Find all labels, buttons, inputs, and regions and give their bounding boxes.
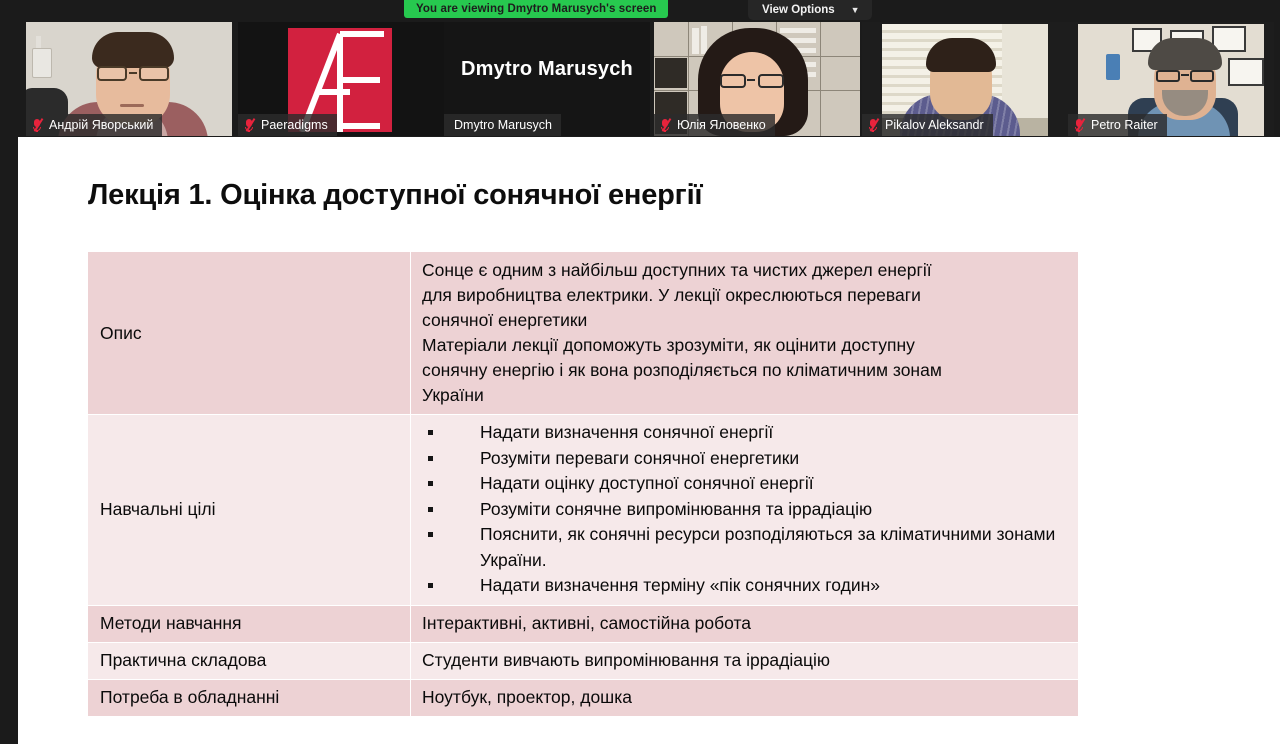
microphone-muted-icon: [1074, 118, 1085, 132]
desc-line: сонячної енергетики: [422, 308, 1068, 333]
row-label: Опис: [88, 252, 410, 414]
row-value: Інтерактивні, активні, самостійна робота: [410, 605, 1078, 642]
desc-line: Матеріали лекції допоможуть зрозуміти, я…: [422, 333, 1068, 358]
row-value: Студенти вивчають випромінювання та ірра…: [410, 642, 1078, 679]
participant-tile-petro[interactable]: Petro Raiter: [1068, 22, 1274, 136]
participant-name: Pikalov Aleksandr: [885, 118, 984, 132]
desc-line: сонячну енергію і як вона розподіляється…: [422, 358, 1068, 383]
participant-namebar: Pikalov Aleksandr: [862, 114, 993, 136]
row-label: Навчальні цілі: [88, 414, 410, 605]
row-label: Практична складова: [88, 642, 410, 679]
participant-namebar: Petro Raiter: [1068, 114, 1167, 136]
desc-line: України: [422, 383, 1068, 408]
participant-name: Paeradigms: [261, 118, 328, 132]
microphone-muted-icon: [244, 118, 255, 132]
microphone-muted-icon: [660, 118, 671, 132]
table-row: Опис Сонце є одним з найбільш доступних …: [88, 252, 1078, 414]
learning-goals-list: Надати визначення сонячної енергії Розум…: [422, 420, 1068, 599]
participant-name: Dmytro Marusych: [454, 118, 552, 132]
participant-tile-dmytro[interactable]: Dmytro Marusych Dmytro Marusych: [444, 22, 650, 136]
table-row: Методи навчання Інтерактивні, активні, с…: [88, 605, 1078, 642]
lecture-table: Опис Сонце є одним з найбільш доступних …: [88, 252, 1078, 716]
participant-name: Petro Raiter: [1091, 118, 1158, 132]
desc-line: Сонце є одним з найбільш доступних та чи…: [422, 258, 1068, 283]
top-banner: You are viewing Dmytro Marusych's screen…: [0, 0, 1280, 20]
window-left-margin: [0, 137, 18, 744]
participant-tile-yuliia[interactable]: Юлія Яловенко: [654, 22, 860, 136]
row-value: Ноутбук, проектор, дошка: [410, 679, 1078, 716]
row-label: Методи навчання: [88, 605, 410, 642]
view-options-button[interactable]: View Options ▼: [748, 0, 872, 20]
microphone-muted-icon: [32, 118, 43, 132]
list-item: Розуміти переваги сонячної енергетики: [422, 446, 1068, 472]
row-label: Потреба в обладнанні: [88, 679, 410, 716]
desc-line: для виробництва електрики. У лекції окре…: [422, 283, 1068, 308]
participant-namebar: Paeradigms: [238, 114, 337, 136]
slide-title: Лекція 1. Оцінка доступної сонячної енер…: [88, 179, 702, 212]
participant-tile-andrii[interactable]: Андрій Яворський: [26, 22, 232, 136]
list-item: Надати визначення терміну «пік сонячних …: [422, 573, 1068, 599]
participant-namebar: Dmytro Marusych: [444, 114, 561, 136]
chevron-down-icon: ▼: [851, 6, 860, 15]
microphone-muted-icon: [868, 118, 879, 132]
participant-name: Юлія Яловенко: [677, 118, 766, 132]
viewing-screen-notice: You are viewing Dmytro Marusych's screen: [404, 0, 668, 18]
participant-tile-pikalov[interactable]: Pikalov Aleksandr: [862, 22, 1068, 136]
participant-namebar: Андрій Яворський: [26, 114, 162, 136]
participant-name: Андрій Яворський: [49, 118, 153, 132]
participant-namebar: Юлія Яловенко: [654, 114, 775, 136]
list-item: Розуміти сонячне випромінювання та іррад…: [422, 497, 1068, 523]
participant-tile-paeradigms[interactable]: Paeradigms: [238, 22, 444, 136]
row-value: Надати визначення сонячної енергії Розум…: [410, 414, 1078, 605]
shared-slide: Лекція 1. Оцінка доступної сонячної енер…: [18, 137, 1280, 744]
table-row: Практична складова Студенти вивчають вип…: [88, 642, 1078, 679]
list-item: Надати визначення сонячної енергії: [422, 420, 1068, 446]
screen-share-window: You are viewing Dmytro Marusych's screen…: [0, 0, 1280, 744]
table-row: Потреба в обладнанні Ноутбук, проектор, …: [88, 679, 1078, 716]
list-item: Пояснити, як сонячні ресурси розподіляют…: [422, 522, 1068, 573]
participant-display-name: Dmytro Marusych: [444, 58, 650, 81]
view-options-label: View Options: [762, 4, 835, 16]
row-value: Сонце є одним з найбільш доступних та чи…: [410, 252, 1078, 414]
table-row: Навчальні цілі Надати визначення сонячно…: [88, 414, 1078, 605]
participant-filmstrip[interactable]: Андрій Яворський: [0, 20, 1280, 137]
list-item: Надати оцінку доступної сонячної енергії: [422, 471, 1068, 497]
